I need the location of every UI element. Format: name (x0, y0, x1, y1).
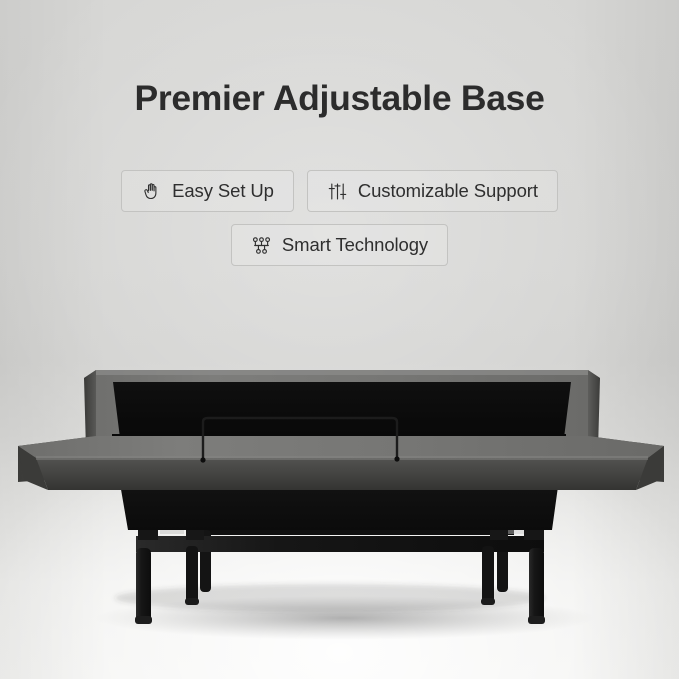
feature-badge-label: Customizable Support (358, 180, 538, 202)
feature-badge-label: Easy Set Up (172, 180, 274, 202)
product-image (0, 330, 679, 650)
feature-badge-easy-set-up[interactable]: Easy Set Up (121, 170, 294, 212)
product-hero-image: Premier Adjustable Base Easy Set Up (0, 0, 679, 679)
adjustable-bed-base-illustration (0, 330, 679, 650)
retainer-bar-mount-left (200, 457, 205, 462)
feature-badge-customizable-support[interactable]: Customizable Support (307, 170, 558, 212)
feature-badge-smart-technology[interactable]: Smart Technology (231, 224, 448, 266)
hand-raised-icon (141, 181, 162, 202)
circuit-network-icon (251, 235, 272, 256)
feature-badge-label: Smart Technology (282, 234, 428, 256)
sliders-icon (327, 181, 348, 202)
bed-foot-rail (18, 434, 664, 490)
page-title: Premier Adjustable Base (0, 78, 679, 119)
retainer-bar-mount-right (394, 456, 399, 461)
feature-badge-row-2: Smart Technology (0, 224, 679, 266)
feature-badge-row-1: Easy Set Up Customizable Support (0, 170, 679, 212)
feature-badge-group: Easy Set Up Customizable Support (0, 170, 679, 266)
